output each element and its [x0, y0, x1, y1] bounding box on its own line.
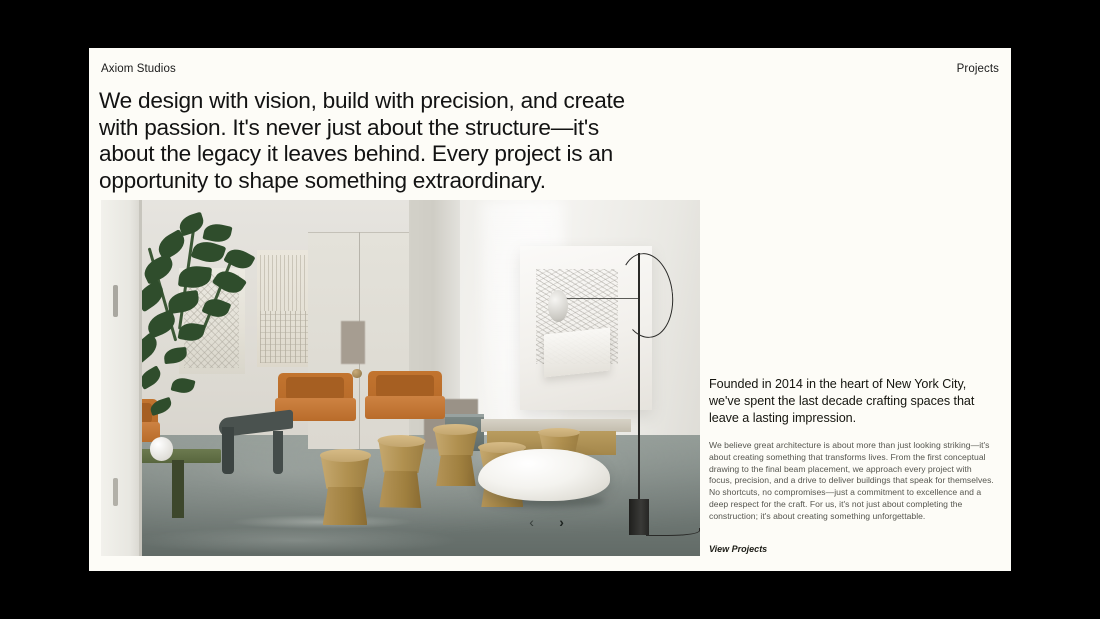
about-lede: Founded in 2014 in the heart of New York… [709, 376, 997, 427]
site-header: Axiom Studios Projects [89, 48, 1011, 90]
image-carousel-controls: ‹ › [101, 200, 700, 556]
view-projects-link[interactable]: View Projects [709, 544, 767, 554]
page-headline: We design with vision, build with precis… [99, 88, 659, 194]
about-body: We believe great architecture is about m… [709, 440, 997, 523]
brand-logo[interactable]: Axiom Studios [101, 63, 176, 75]
chevron-left-icon[interactable]: ‹ [529, 515, 534, 529]
site-card: Axiom Studios Projects We design with vi… [89, 48, 1011, 571]
about-column: Founded in 2014 in the heart of New York… [709, 376, 997, 557]
chevron-right-icon[interactable]: › [559, 515, 564, 529]
hero-image[interactable]: ‹ › [101, 200, 700, 556]
interior-photo: ‹ › [101, 200, 700, 556]
page-root: Axiom Studios Projects We design with vi… [0, 0, 1100, 619]
nav-link-projects[interactable]: Projects [957, 63, 999, 75]
